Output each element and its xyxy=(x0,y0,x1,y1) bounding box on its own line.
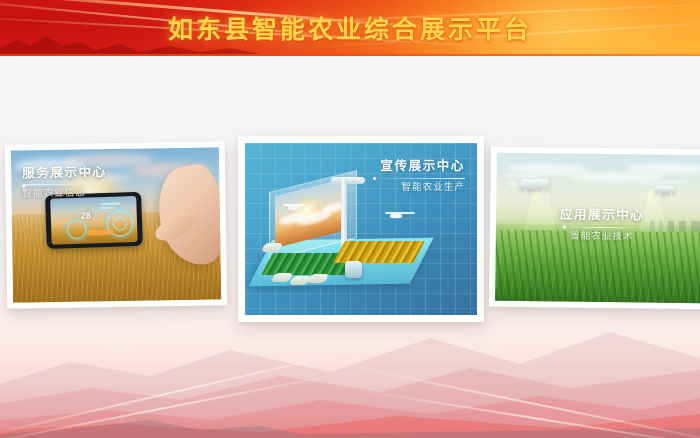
card-title: 服务展示中心 xyxy=(22,165,107,182)
scene-wheat-field-smartphone: 28 服务展示中心 智能农业信息 xyxy=(11,147,221,302)
drone-icon xyxy=(385,211,415,220)
water-tank xyxy=(345,261,362,278)
hud-bar xyxy=(100,202,120,205)
caption-dot xyxy=(373,177,376,180)
scene-isometric-smart-farm: 宣传展示中心 智能农业生产 xyxy=(245,143,477,315)
card-subtitle: 智能农业技术 xyxy=(559,230,645,242)
drone-icon xyxy=(642,176,686,205)
drone-leg xyxy=(658,193,660,201)
caption-divider xyxy=(559,226,645,228)
light-pole-arm xyxy=(331,177,365,184)
drone-icon xyxy=(283,203,305,212)
page-title: 如东县智能农业综合展示平台 xyxy=(0,0,700,56)
card-title: 宣传展示中心 xyxy=(373,159,465,175)
card-application-center[interactable]: 应用展示中心 智能农业技术 xyxy=(489,147,700,310)
drone-blade xyxy=(663,181,687,183)
caption-dot xyxy=(22,184,25,187)
yellow-crop-rows xyxy=(333,241,425,263)
header-bottom-line xyxy=(0,54,700,56)
page-root: 如东县智能农业综合展示平台 28 xyxy=(0,0,700,438)
caption-divider xyxy=(22,183,106,185)
card-caption: 服务展示中心 智能农业信息 xyxy=(22,165,107,199)
card-caption: 应用展示中心 智能农业技术 xyxy=(559,207,645,242)
drone-blade xyxy=(643,182,667,184)
drone-leg xyxy=(670,193,672,201)
hud-bar xyxy=(87,230,113,236)
card-promotion-center[interactable]: 宣传展示中心 智能农业生产 xyxy=(238,136,484,322)
smartphone-device: 28 xyxy=(45,192,143,249)
scene-green-field-drones: 应用展示中心 智能农业技术 xyxy=(495,153,700,304)
card-caption: 宣传展示中心 智能农业生产 xyxy=(373,159,465,193)
card-title: 应用展示中心 xyxy=(559,207,645,224)
caption-dot xyxy=(563,225,566,228)
card-subtitle: 智能农业生产 xyxy=(373,182,465,193)
header-banner: 如东县智能农业综合展示平台 xyxy=(0,0,700,56)
drone-icon xyxy=(504,167,566,206)
drone-body xyxy=(520,179,548,189)
card-service-center[interactable]: 28 服务展示中心 智能农业信息 xyxy=(5,141,228,308)
drone-leg xyxy=(524,189,526,201)
hud-ring-icon xyxy=(67,220,87,240)
drone-leg xyxy=(542,189,544,201)
temperature-reading: 28 xyxy=(81,210,91,220)
smartphone-screen: 28 xyxy=(50,196,137,245)
drone-blade xyxy=(505,175,539,177)
caption-divider xyxy=(373,178,465,179)
hud-bar xyxy=(100,207,114,209)
card-subtitle: 智能农业信息 xyxy=(22,187,107,200)
drone-blade xyxy=(533,172,567,174)
